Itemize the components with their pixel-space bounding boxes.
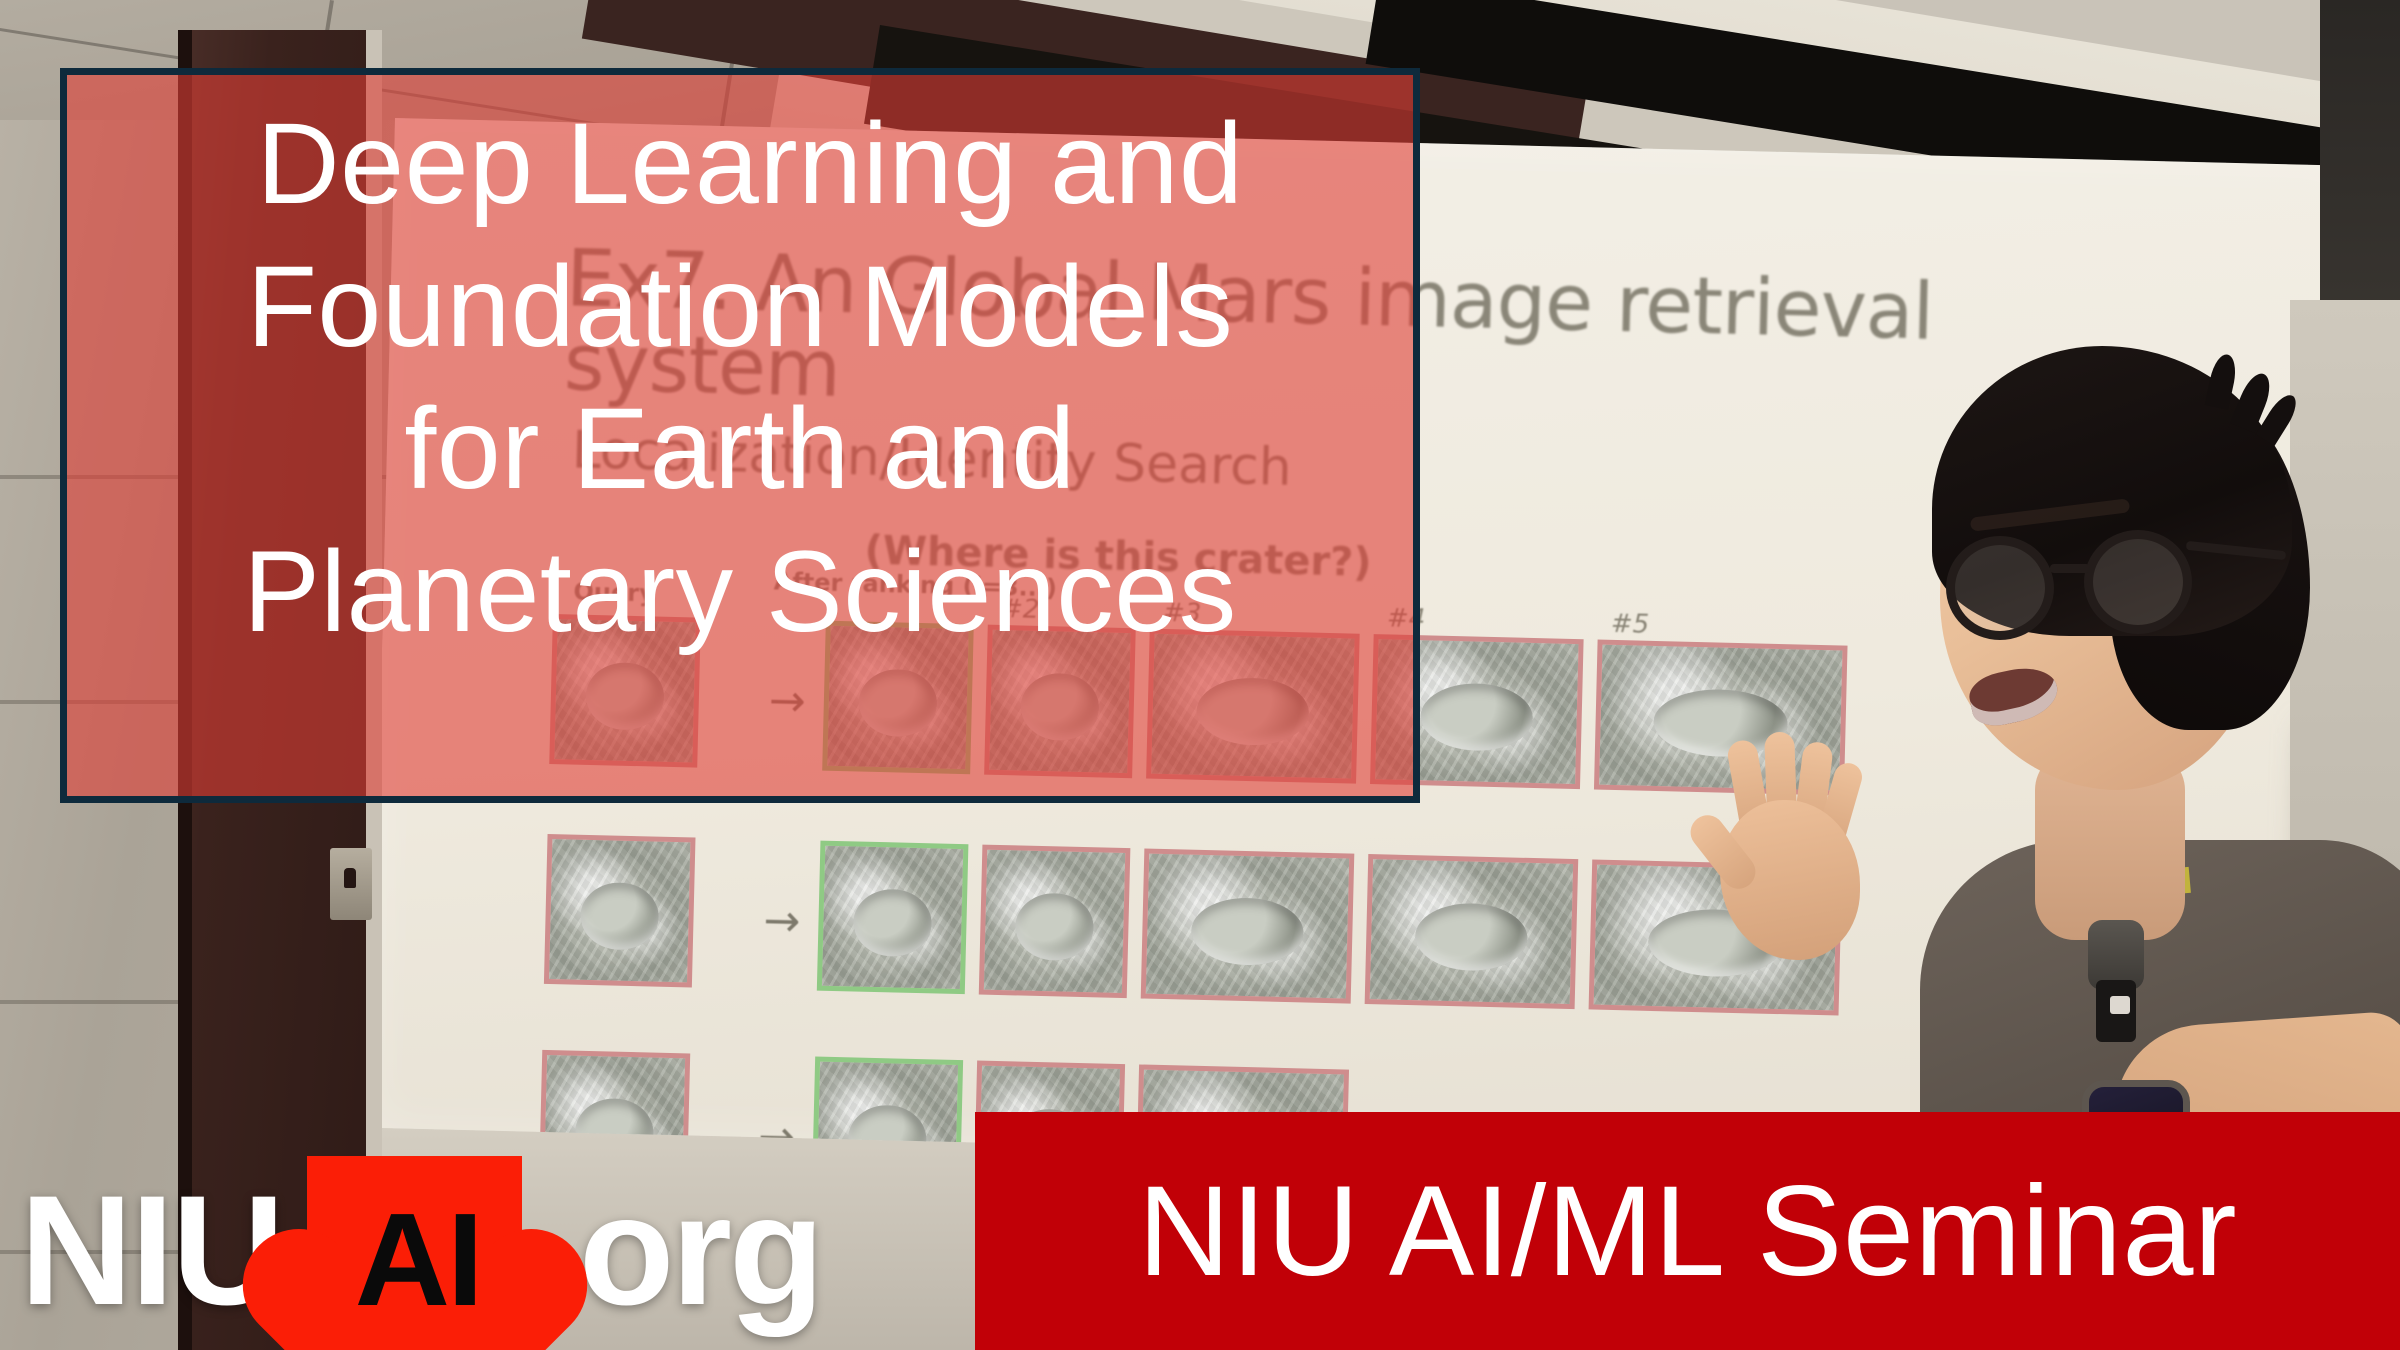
thumbnail-result — [979, 845, 1131, 999]
keyhole-icon — [344, 868, 356, 888]
presenter-hand — [1700, 740, 1890, 970]
brand-lockup: NIU AI .org — [0, 1110, 985, 1350]
title-line-2: Foundation Models — [247, 236, 1234, 379]
thumbnail-result — [817, 841, 969, 995]
title-overlay-text: Deep Learning and Foundation Models for … — [67, 75, 1413, 796]
heart-label: AI — [293, 1194, 543, 1326]
glasses-icon — [1946, 530, 2226, 640]
thumbnail-query — [544, 834, 696, 988]
seminar-banner: NIU AI/ML Seminar — [975, 1112, 2400, 1350]
screenshot-root: Ex7. An Global Mars image retrieval syst… — [0, 0, 2400, 1350]
brand-prefix: NIU — [20, 1173, 283, 1329]
title-line-4: Planetary Sciences — [243, 521, 1236, 664]
thumbnail-result — [1141, 849, 1355, 1004]
title-overlay-card: Deep Learning and Foundation Models for … — [60, 68, 1420, 803]
title-line-1: Deep Learning and — [237, 93, 1244, 236]
heart-icon: AI — [293, 1138, 543, 1350]
seminar-banner-label: NIU AI/ML Seminar — [1138, 1158, 2237, 1305]
thumbnail-row-2: → — [544, 834, 1856, 1016]
arrow-icon: → — [763, 895, 801, 947]
thumbnail-result — [1365, 854, 1579, 1009]
title-line-3: for Earth and — [404, 378, 1075, 521]
